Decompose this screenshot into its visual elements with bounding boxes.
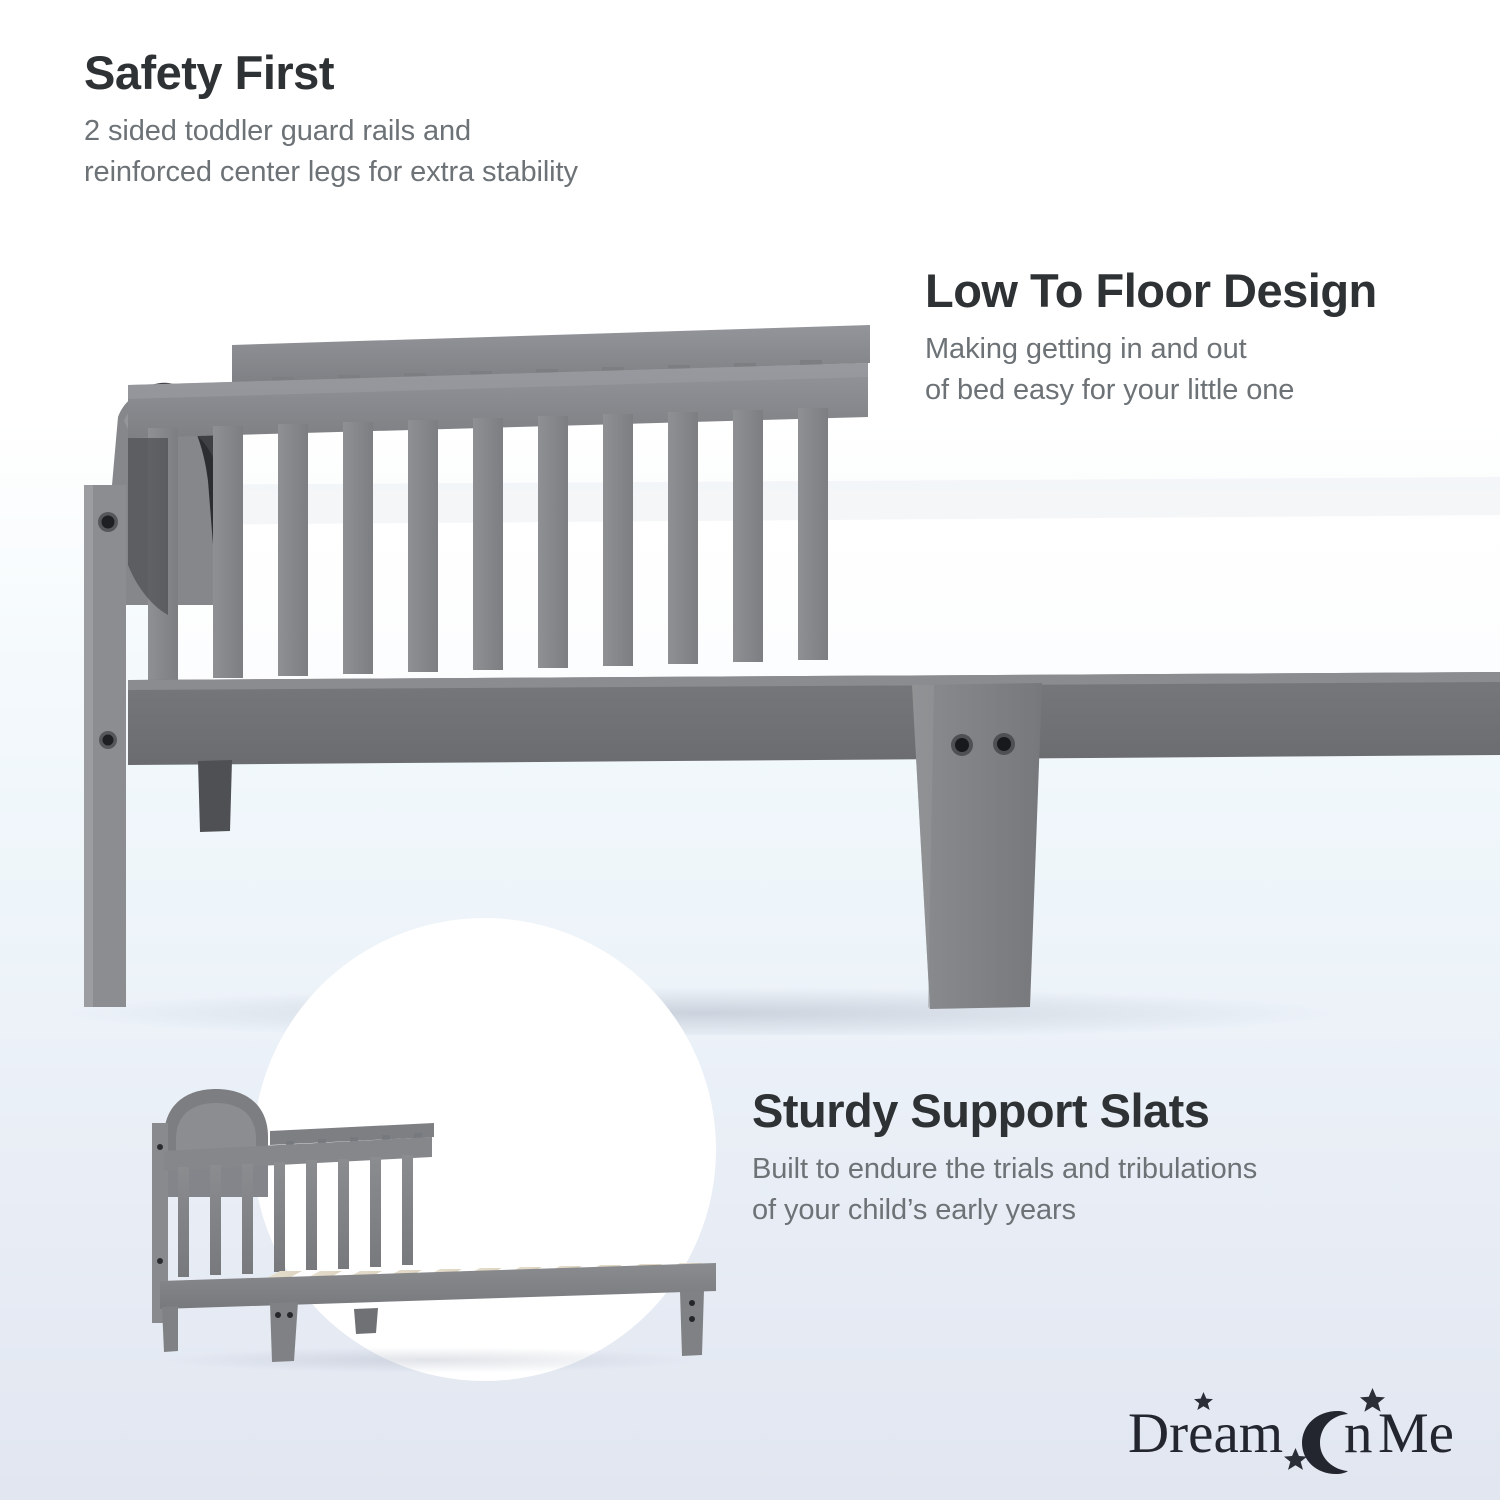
inset-floor-shadow — [160, 1347, 700, 1373]
feature-body-line-1: 2 sided toddler guard rails and — [84, 111, 784, 152]
product-photo-inset-bed — [120, 1075, 760, 1375]
screw-cap-inner-icon — [102, 516, 115, 529]
inset-leg-right — [680, 1290, 704, 1356]
logo-word-on: n — [1344, 1402, 1373, 1465]
inset-near-rail-slats — [178, 1155, 413, 1277]
logo-word-dream: Dream — [1128, 1402, 1283, 1465]
inset-screw-cap-icon-6 — [689, 1316, 695, 1322]
feature-body-sturdy-support-slats: Built to endure the trials and tribulati… — [752, 1149, 1352, 1231]
logo-word-me: Me — [1378, 1402, 1454, 1465]
feature-safety-first: Safety First 2 sided toddler guard rails… — [84, 48, 784, 193]
feature-body-line-2: of your child’s early years — [752, 1190, 1352, 1231]
screw-cap-inner-icon-4 — [997, 737, 1011, 751]
crescent-moon-icon — [1302, 1411, 1348, 1474]
inset-screw-cap-icon-2 — [157, 1258, 163, 1264]
feature-body-line-1: Built to endure the trials and tribulati… — [752, 1149, 1352, 1190]
inset-leg-left — [162, 1306, 178, 1352]
screw-cap-inner-icon-3 — [955, 738, 969, 752]
center-support-stub — [198, 760, 232, 832]
brand-logo: Dream n Me — [1126, 1386, 1456, 1482]
inset-screw-cap-icon-4 — [287, 1312, 293, 1318]
product-photo-main-bed — [0, 185, 1500, 1035]
floor-shadow — [60, 987, 1340, 1035]
feature-sturdy-support-slats: Sturdy Support Slats Built to endure the… — [752, 1086, 1352, 1231]
inset-leg-center — [270, 1302, 298, 1362]
feature-heading-sturdy-support-slats: Sturdy Support Slats — [752, 1086, 1352, 1136]
inset-leg-stub — [354, 1308, 378, 1334]
headboard-post-left-edge — [84, 485, 93, 617]
headboard-post-left-lower-edge — [84, 617, 93, 1007]
inset-screw-cap-icon-3 — [275, 1312, 281, 1318]
screw-cap-inner-icon-2 — [103, 735, 114, 746]
feature-heading-safety-first: Safety First — [84, 48, 784, 98]
inset-screw-cap-icon-5 — [689, 1300, 695, 1306]
inset-screw-cap-icon — [157, 1144, 163, 1150]
feature-body-safety-first: 2 sided toddler guard rails and reinforc… — [84, 111, 784, 193]
